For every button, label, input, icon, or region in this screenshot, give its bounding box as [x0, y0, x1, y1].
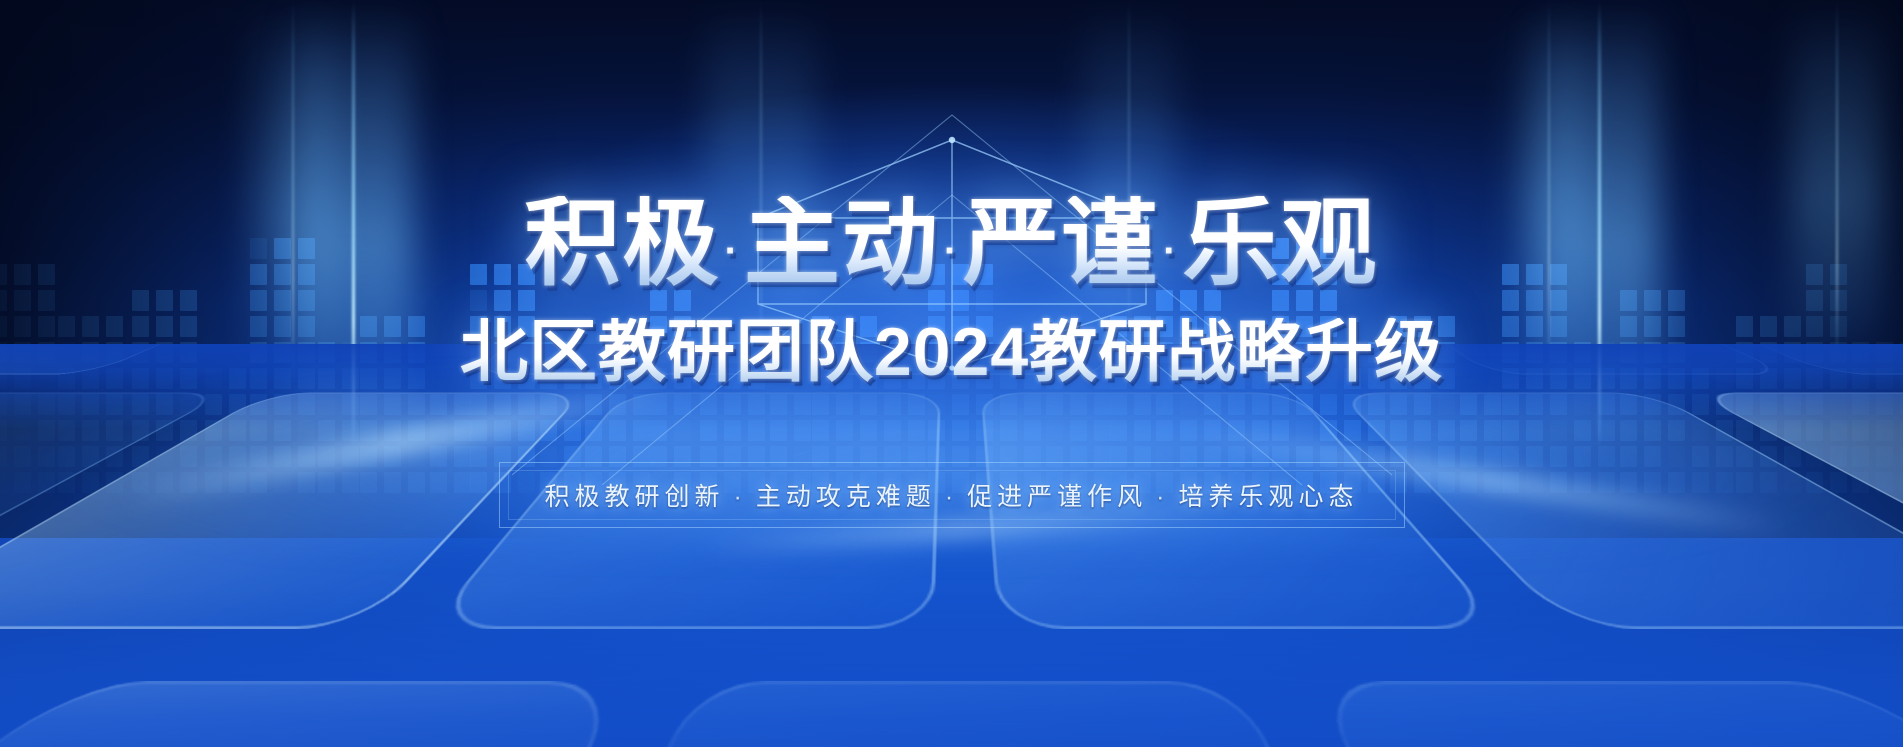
- tagline-separator-3: ·: [1147, 483, 1178, 511]
- main-title-separator-2: ·: [940, 229, 963, 273]
- tagline-item-1: 积极教研创新: [544, 483, 724, 511]
- tagline-item-2: 主动攻克难题: [756, 483, 936, 511]
- banner-main-title: 积极·主动·严谨·乐观: [0, 196, 1903, 292]
- main-title-word-4: 乐观: [1182, 190, 1378, 297]
- banner-root: 积极·主动·严谨·乐观 北区教研团队2024教研战略升级 积极教研创新·主动攻克…: [0, 0, 1903, 747]
- main-title-word-2: 主动: [744, 190, 940, 297]
- main-title-word-3: 严谨: [963, 190, 1159, 297]
- tagline-separator-1: ·: [724, 483, 755, 511]
- main-title-separator-3: ·: [1159, 229, 1182, 273]
- tagline-item-3: 促进严谨作风: [967, 483, 1147, 511]
- main-title-separator-1: ·: [721, 229, 744, 273]
- banner-subtitle: 北区教研团队2024教研战略升级: [0, 318, 1903, 386]
- main-title-word-1: 积极: [525, 190, 721, 297]
- tagline-box: 积极教研创新·主动攻克难题·促进严谨作风·培养乐观心态: [498, 462, 1404, 528]
- tagline-text: 积极教研创新·主动攻克难题·促进严谨作风·培养乐观心态: [544, 477, 1358, 513]
- banner-content: 积极·主动·严谨·乐观 北区教研团队2024教研战略升级 积极教研创新·主动攻克…: [0, 0, 1903, 747]
- tagline-item-4: 培养乐观心态: [1179, 483, 1359, 511]
- tagline-separator-2: ·: [936, 483, 967, 511]
